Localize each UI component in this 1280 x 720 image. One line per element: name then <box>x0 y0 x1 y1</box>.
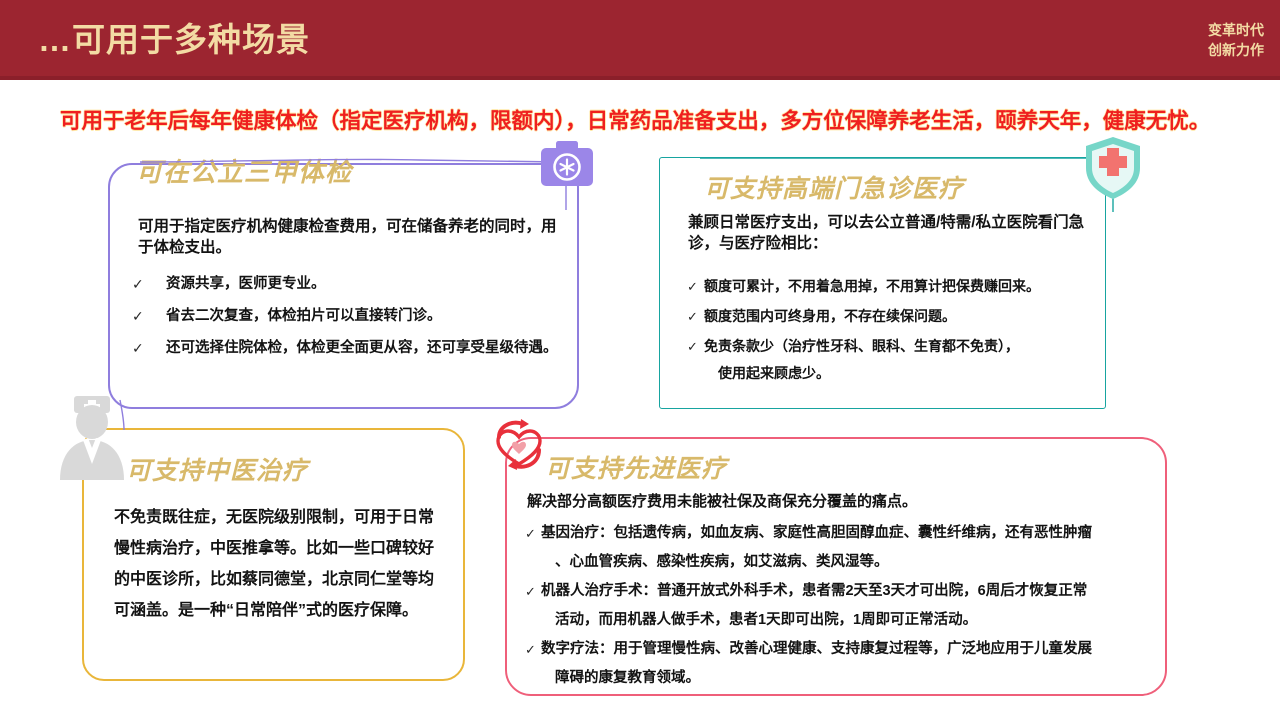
list-item-main: 数字疗法：用于管理慢性病、改善心理健康、支持康复过程等，广泛地应用于儿童发展 <box>541 641 1092 657</box>
list-item-continuation: 障碍的康复教育领域。 <box>541 664 1165 693</box>
list-item: ✓ 基因治疗：包括遗传病，如血友病、家庭性高胆固醇血症、囊性纤维病，还有恶性肿瘤… <box>525 519 1165 577</box>
brand-tagline: 变革时代 创新力作 <box>1208 20 1264 60</box>
list-item-continuation: 、心血管疾病、感染性疾病，如艾滋病、类风湿等。 <box>541 548 1165 577</box>
header-accent-stripe <box>0 76 1280 80</box>
slide-header: …可用于多种场景 变革时代 创新力作 <box>0 0 1280 80</box>
shield-cross-icon <box>1082 135 1144 201</box>
list-item-label: 数字疗法：用于管理慢性病、改善心理健康、支持康复过程等，广泛地应用于儿童发展 障… <box>541 635 1165 693</box>
list-item-main: 基因治疗：包括遗传病，如血友病、家庭性高胆固醇血症、囊性纤维病，还有恶性肿瘤 <box>541 525 1092 541</box>
list-item-label: 基因治疗：包括遗传病，如血友病、家庭性高胆固醇血症、囊性纤维病，还有恶性肿瘤 、… <box>541 519 1165 577</box>
list-item: ✓ 数字疗法：用于管理慢性病、改善心理健康、支持康复过程等，广泛地应用于儿童发展… <box>525 635 1165 693</box>
heart-cycle-icon <box>488 418 550 480</box>
list-item-continuation: 活动，而用机器人做手术，患者1天即可出院，1周即可正常活动。 <box>541 606 1165 635</box>
doctor-icon <box>52 392 144 484</box>
list-item-main: 机器人治疗手术：普通开放式外科手术，患者需2天至3天才可出院，6周后才恢复正常 <box>541 583 1087 599</box>
card-tcm-lede: 不免责既往症，无医院级别限制，可用于日常慢性病治疗，中医推拿等。比如一些口碑较好… <box>114 502 444 626</box>
check-icon: ✓ <box>525 519 541 548</box>
page-title: …可用于多种场景 <box>38 20 310 60</box>
brand-tagline-line1: 变革时代 <box>1208 20 1264 40</box>
medical-bag-icon <box>538 138 596 200</box>
check-icon: ✓ <box>525 577 541 606</box>
lead-paragraph: 可用于老年后每年健康体检（指定医疗机构，限额内），日常药品准备支出，多方位保障养… <box>60 106 1250 137</box>
list-item-label: 机器人治疗手术：普通开放式外科手术，患者需2天至3天才可出院，6周后才恢复正常 … <box>541 577 1165 635</box>
card-advanced-medicine: 可支持先进医疗 解决部分高额医疗费用未能被社保及商保充分覆盖的痛点。 ✓ 基因治… <box>505 437 1167 696</box>
slide-root: …可用于多种场景 变革时代 创新力作 可用于老年后每年健康体检（指定医疗机构，限… <box>0 0 1280 720</box>
card-advanced-lede: 解决部分高额医疗费用未能被社保及商保充分覆盖的痛点。 <box>527 492 1157 512</box>
brand-tagline-line2: 创新力作 <box>1208 40 1264 60</box>
check-icon: ✓ <box>525 635 541 664</box>
card-advanced-bullet-list: ✓ 基因治疗：包括遗传病，如血友病、家庭性高胆固醇血症、囊性纤维病，还有恶性肿瘤… <box>525 519 1165 693</box>
list-item: ✓ 机器人治疗手术：普通开放式外科手术，患者需2天至3天才可出院，6周后才恢复正… <box>525 577 1165 635</box>
